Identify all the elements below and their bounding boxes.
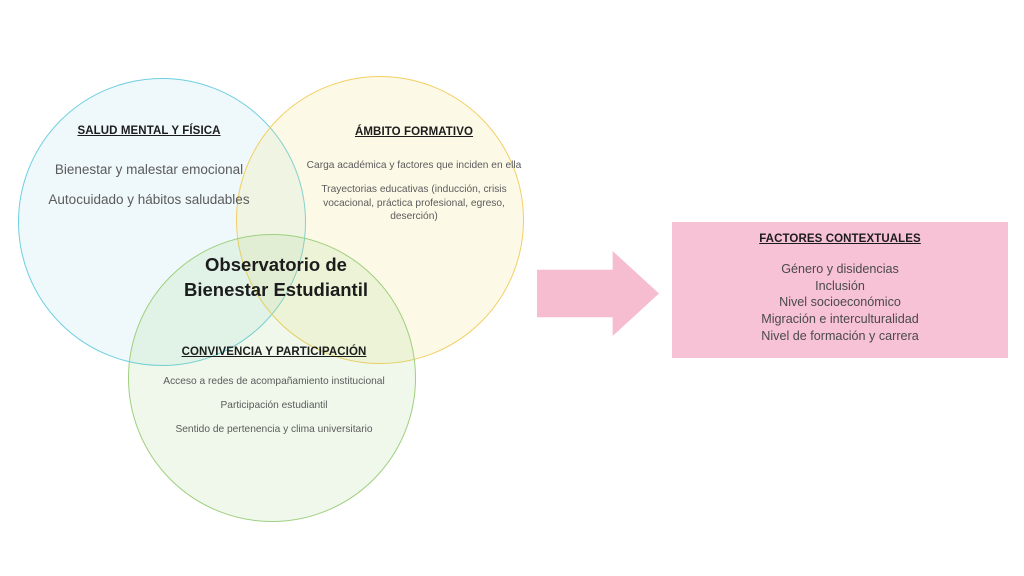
items-factores-contextuales: Género y disidencias Inclusión Nivel soc… bbox=[672, 261, 1008, 345]
venn-text-salud-mental-y-fisica: SALUD MENTAL Y FÍSICA Bienestar y malest… bbox=[40, 125, 258, 209]
items-ambito-formativo: Carga académica y factores que inciden e… bbox=[304, 159, 524, 224]
center-label-line-2: Bienestar Estudiantil bbox=[148, 278, 404, 303]
list-item: Género y disidencias bbox=[672, 261, 1008, 278]
heading-convivencia-y-participacion: CONVIVENCIA Y PARTICIPACIÓN bbox=[158, 346, 390, 358]
list-item: Acceso a redes de acompañamiento institu… bbox=[158, 375, 390, 389]
list-item: Sentido de pertenencia y clima universit… bbox=[158, 423, 390, 437]
right-arrow-icon bbox=[537, 251, 659, 336]
venn-text-convivencia-y-participacion: CONVIVENCIA Y PARTICIPACIÓN Acceso a red… bbox=[158, 346, 390, 437]
list-item: Bienestar y malestar emocional bbox=[40, 162, 258, 179]
center-label-line-1: Observatorio de bbox=[148, 253, 404, 278]
items-convivencia-y-participacion: Acceso a redes de acompañamiento institu… bbox=[158, 375, 390, 437]
venn-text-ambito-formativo: ÁMBITO FORMATIVO Carga académica y facto… bbox=[304, 126, 524, 224]
diagram-canvas: SALUD MENTAL Y FÍSICA Bienestar y malest… bbox=[0, 0, 1024, 576]
list-item: Autocuidado y hábitos saludables bbox=[40, 192, 258, 209]
list-item: Carga académica y factores que inciden e… bbox=[304, 159, 524, 173]
items-salud-mental-y-fisica: Bienestar y malestar emocional Autocuida… bbox=[40, 162, 258, 209]
list-item: Participación estudiantil bbox=[158, 399, 390, 413]
heading-salud-mental-y-fisica: SALUD MENTAL Y FÍSICA bbox=[40, 125, 258, 137]
list-item: Nivel de formación y carrera bbox=[672, 328, 1008, 345]
center-label-observatorio: Observatorio de Bienestar Estudiantil bbox=[148, 253, 404, 303]
list-item: Nivel socioeconómico bbox=[672, 294, 1008, 311]
factores-contextuales-box: FACTORES CONTEXTUALES Género y disidenci… bbox=[672, 222, 1008, 358]
list-item: Inclusión bbox=[672, 278, 1008, 295]
heading-ambito-formativo: ÁMBITO FORMATIVO bbox=[304, 126, 524, 138]
list-item: Migración e interculturalidad bbox=[672, 311, 1008, 328]
heading-factores-contextuales: FACTORES CONTEXTUALES bbox=[672, 233, 1008, 245]
list-item: Trayectorias educativas (inducción, cris… bbox=[304, 183, 524, 224]
